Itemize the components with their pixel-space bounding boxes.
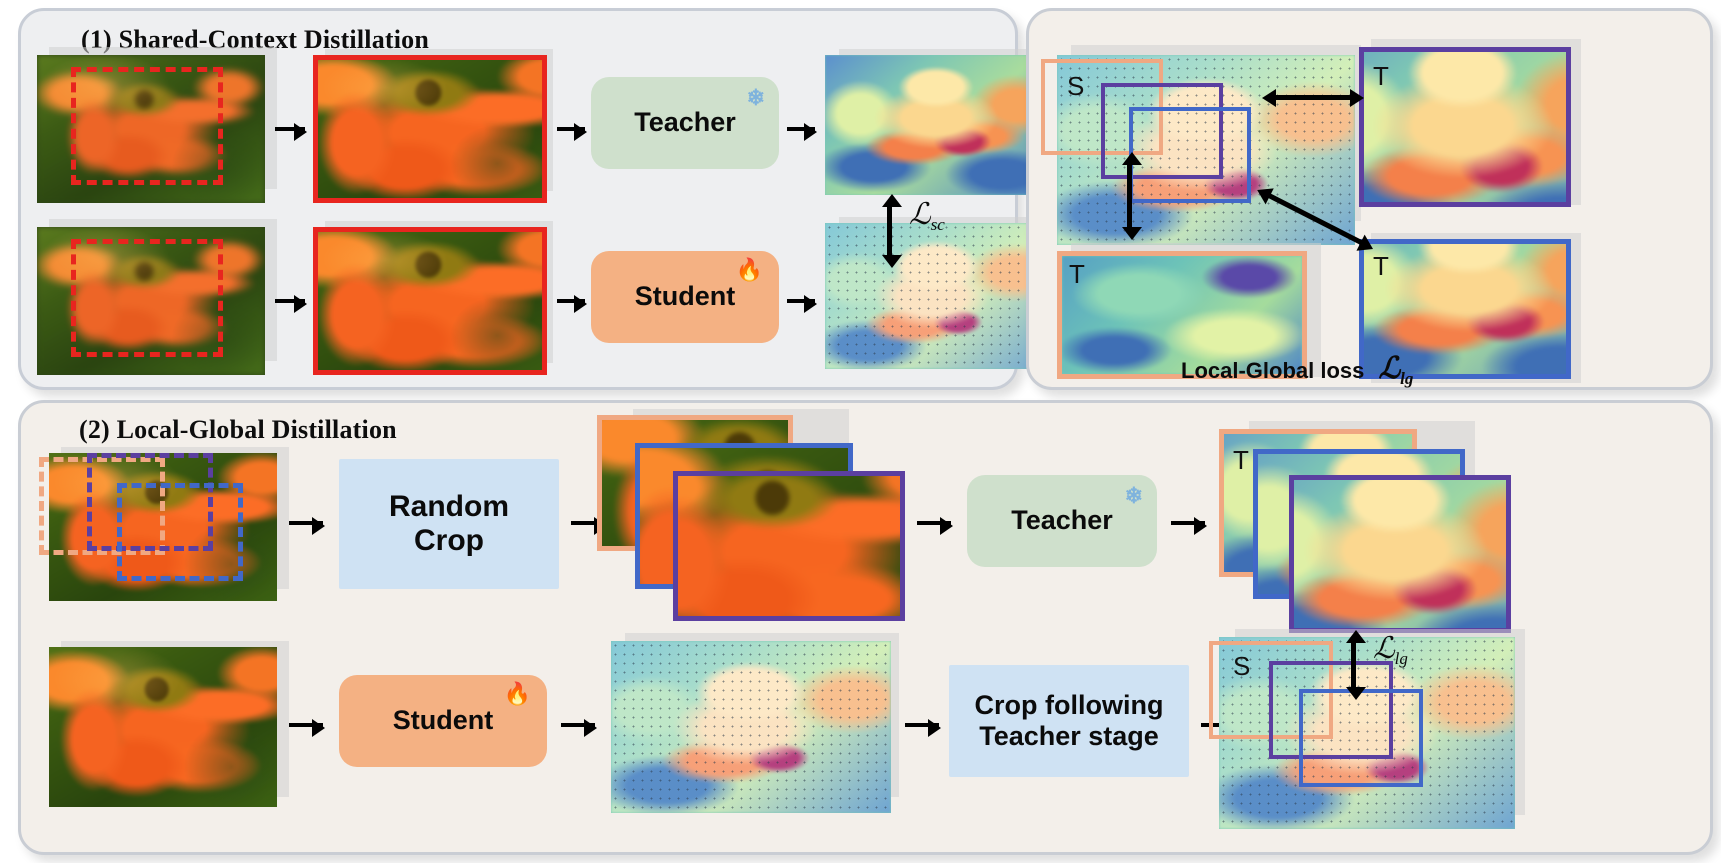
tag-teacher-blue: T <box>1373 253 1389 279</box>
loss-lg-label: ℒlg <box>1373 631 1408 669</box>
arrow-student-to-depth <box>787 299 815 303</box>
arrow-teacher-to-depth <box>787 127 815 131</box>
tag-student-out: S <box>1233 653 1250 679</box>
loss-lg-arrow <box>1351 641 1356 689</box>
lgd-input-image-teacher <box>49 453 277 601</box>
input-image-student-full <box>37 227 265 375</box>
arrow-input-to-teacher-crop <box>275 127 305 131</box>
teacher-block-label: Teacher <box>634 107 736 138</box>
arrow-input-to-student <box>289 723 323 727</box>
tag-teacher-out: T <box>1233 447 1249 473</box>
arrow-depth-to-crop-following <box>905 723 939 727</box>
arrow-crop-to-teacher <box>557 127 585 131</box>
teacher-crop-purple <box>1359 47 1571 207</box>
teacher-block[interactable]: Teacher ❄ <box>591 77 779 169</box>
tag-teacher-salmon: T <box>1069 261 1085 287</box>
teacher-depth-map <box>825 55 1047 195</box>
local-global-loss-caption: Local-Global loss ℒlg <box>1181 351 1405 389</box>
arrow-input-to-student-crop <box>275 299 305 303</box>
tag-student-global: S <box>1067 73 1084 99</box>
lgd-student-label: Student <box>393 705 494 736</box>
student-block[interactable]: Student 🔥 <box>591 251 779 343</box>
input-image-teacher-full <box>37 55 265 203</box>
random-crop-block[interactable]: Random Crop <box>339 459 559 589</box>
cropped-image-student <box>313 227 547 375</box>
lgd-student-block[interactable]: Student 🔥 <box>339 675 547 767</box>
panel-local-global-loss: S T T T Local-Global loss ℒlg <box>1026 8 1713 390</box>
lgd-teacher-label: Teacher <box>1011 505 1113 536</box>
arrow-crop-to-student <box>557 299 585 303</box>
fire-icon: 🔥 <box>736 259 763 281</box>
arrow-student-to-teacher-purple <box>1275 95 1351 100</box>
crop-following-label-line2: Teacher stage <box>979 721 1159 752</box>
student-depth-map <box>825 223 1047 369</box>
random-crop-thumb-purple <box>673 471 905 621</box>
arrow-crops-to-teacher <box>917 521 951 525</box>
loss-sc-arrow <box>887 205 892 257</box>
panel-local-global-distillation: (2) Local-Global Distillation Random Cro… <box>18 400 1713 855</box>
loss-sc-label: ℒsc <box>909 197 945 235</box>
random-crop-label-line2: Crop <box>414 524 484 559</box>
snowflake-icon: ❄ <box>747 87 765 109</box>
panel-local-global-title: (2) Local-Global Distillation <box>79 415 397 445</box>
arrow-student-to-depth <box>561 723 595 727</box>
arrow-student-to-teacher-salmon <box>1127 163 1132 229</box>
teacher-out-purple <box>1289 475 1511 633</box>
snowflake-icon: ❄ <box>1125 485 1143 507</box>
panel-shared-context-distillation: (1) Shared-Context Distillation Teacher … <box>18 8 1018 390</box>
lgd-teacher-block[interactable]: Teacher ❄ <box>967 475 1157 567</box>
student-cropped-output <box>1219 637 1515 829</box>
crop-following-label-line1: Crop following <box>975 690 1164 721</box>
student-block-label: Student <box>635 281 736 312</box>
crop-following-teacher-block[interactable]: Crop following Teacher stage <box>949 665 1189 777</box>
fire-icon: 🔥 <box>504 683 531 705</box>
figure-root: (1) Shared-Context Distillation Teacher … <box>0 0 1721 863</box>
student-global-output <box>611 641 891 813</box>
cropped-image-teacher <box>313 55 547 203</box>
random-crop-label-line1: Random <box>389 490 509 525</box>
lgd-input-image-student <box>49 647 277 807</box>
arrow-teacher-to-depth-stack <box>1171 521 1205 525</box>
arrow-input-to-random-crop <box>289 521 323 525</box>
tag-teacher-purple: T <box>1373 63 1389 89</box>
